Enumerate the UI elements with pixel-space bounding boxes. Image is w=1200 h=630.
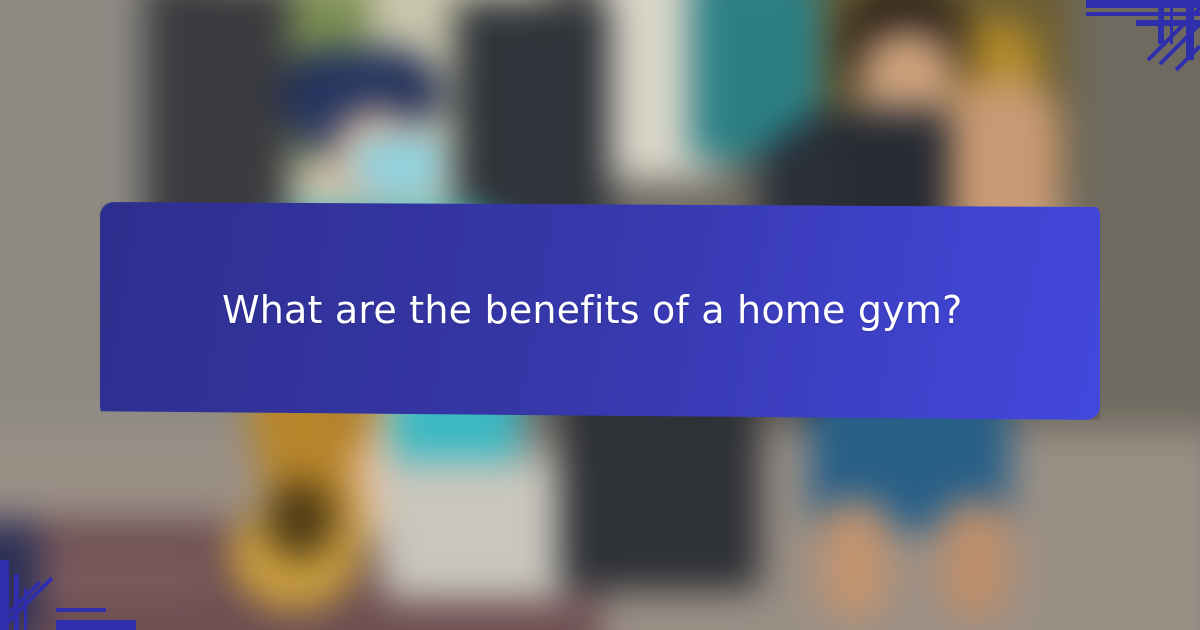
screenshot-canvas: What are the benefits of a home gym? bbox=[0, 0, 1200, 630]
background-shape-person-right-leg-right bbox=[940, 500, 1010, 620]
background-shape-person-left-mask bbox=[350, 135, 445, 195]
decorative-lines-top-right-icon bbox=[1040, 0, 1200, 120]
decorative-lines-bottom-left-icon bbox=[0, 470, 190, 630]
background-shape-saxophone-shadow bbox=[265, 480, 335, 560]
page-title: What are the benefits of a home gym? bbox=[100, 287, 1022, 335]
title-banner: What are the benefits of a home gym? bbox=[100, 202, 1100, 420]
background-shape-person-right-leg-left bbox=[820, 500, 890, 620]
background-shape-person-left-shorts bbox=[380, 460, 580, 600]
